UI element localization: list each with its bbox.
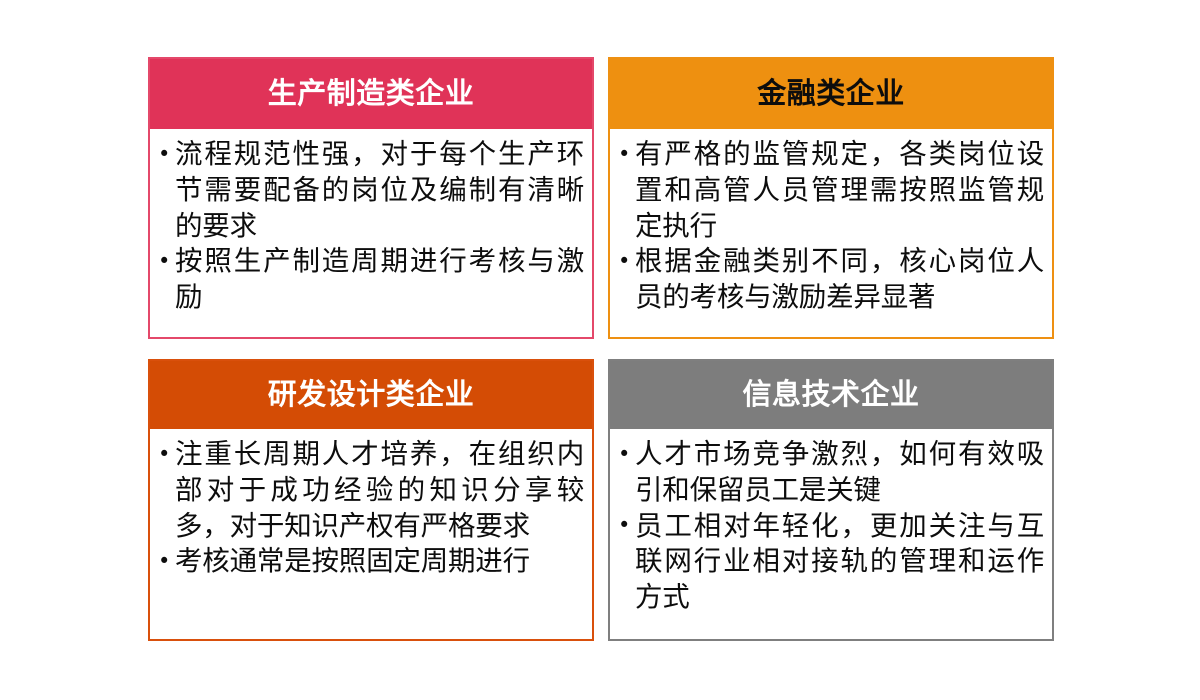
bullet-item: 注重长周期人才培养，在组织内部对于成功经验的知识分享较多，对于知识产权有严格要求 bbox=[156, 437, 584, 544]
card-title-finance: 金融类企业 bbox=[757, 78, 905, 110]
bullet-item: 人才市场竞争激烈，如何有效吸引和保留员工是关键 bbox=[616, 437, 1044, 509]
bullet-item: 流程规范性强，对于每个生产环节需要配备的岗位及编制有清晰的要求 bbox=[156, 137, 584, 244]
card-body-finance: 有严格的监管规定，各类岗位设置和高管人员管理需按照监管规定执行 根据金融类别不同… bbox=[610, 129, 1052, 337]
card-information-technology[interactable]: 信息技术企业 人才市场竞争激烈，如何有效吸引和保留员工是关键 员工相对年轻化，更… bbox=[608, 359, 1054, 641]
card-body-information-technology: 人才市场竞争激烈，如何有效吸引和保留员工是关键 员工相对年轻化，更加关注与互联网… bbox=[610, 429, 1052, 639]
bullet-item: 有严格的监管规定，各类岗位设置和高管人员管理需按照监管规定执行 bbox=[616, 137, 1044, 244]
card-title-information-technology: 信息技术企业 bbox=[742, 379, 919, 411]
card-manufacturing[interactable]: 生产制造类企业 流程规范性强，对于每个生产环节需要配备的岗位及编制有清晰的要求 … bbox=[148, 57, 594, 339]
bullet-item: 考核通常是按照固定周期进行 bbox=[156, 544, 584, 580]
bullet-list-information-technology: 人才市场竞争激烈，如何有效吸引和保留员工是关键 员工相对年轻化，更加关注与互联网… bbox=[616, 437, 1044, 616]
card-grid: 生产制造类企业 流程规范性强，对于每个生产环节需要配备的岗位及编制有清晰的要求 … bbox=[148, 57, 1054, 641]
card-header-research-design: 研发设计类企业 bbox=[150, 361, 592, 429]
bullet-item: 按照生产制造周期进行考核与激励 bbox=[156, 244, 584, 316]
card-research-design[interactable]: 研发设计类企业 注重长周期人才培养，在组织内部对于成功经验的知识分享较多，对于知… bbox=[148, 359, 594, 641]
card-header-finance: 金融类企业 bbox=[610, 59, 1052, 129]
bullet-list-manufacturing: 流程规范性强，对于每个生产环节需要配备的岗位及编制有清晰的要求 按照生产制造周期… bbox=[156, 137, 584, 316]
bullet-list-finance: 有严格的监管规定，各类岗位设置和高管人员管理需按照监管规定执行 根据金融类别不同… bbox=[616, 137, 1044, 316]
card-finance[interactable]: 金融类企业 有严格的监管规定，各类岗位设置和高管人员管理需按照监管规定执行 根据… bbox=[608, 57, 1054, 339]
slide-canvas: 生产制造类企业 流程规范性强，对于每个生产环节需要配备的岗位及编制有清晰的要求 … bbox=[0, 0, 1200, 700]
card-header-manufacturing: 生产制造类企业 bbox=[150, 59, 592, 129]
card-header-information-technology: 信息技术企业 bbox=[610, 361, 1052, 429]
bullet-list-research-design: 注重长周期人才培养，在组织内部对于成功经验的知识分享较多，对于知识产权有严格要求… bbox=[156, 437, 584, 580]
card-body-research-design: 注重长周期人才培养，在组织内部对于成功经验的知识分享较多，对于知识产权有严格要求… bbox=[150, 429, 592, 639]
card-title-manufacturing: 生产制造类企业 bbox=[268, 78, 475, 110]
bullet-item: 员工相对年轻化，更加关注与互联网行业相对接轨的管理和运作方式 bbox=[616, 509, 1044, 616]
card-title-research-design: 研发设计类企业 bbox=[268, 379, 475, 411]
card-body-manufacturing: 流程规范性强，对于每个生产环节需要配备的岗位及编制有清晰的要求 按照生产制造周期… bbox=[150, 129, 592, 337]
bullet-item: 根据金融类别不同，核心岗位人员的考核与激励差异显著 bbox=[616, 244, 1044, 316]
